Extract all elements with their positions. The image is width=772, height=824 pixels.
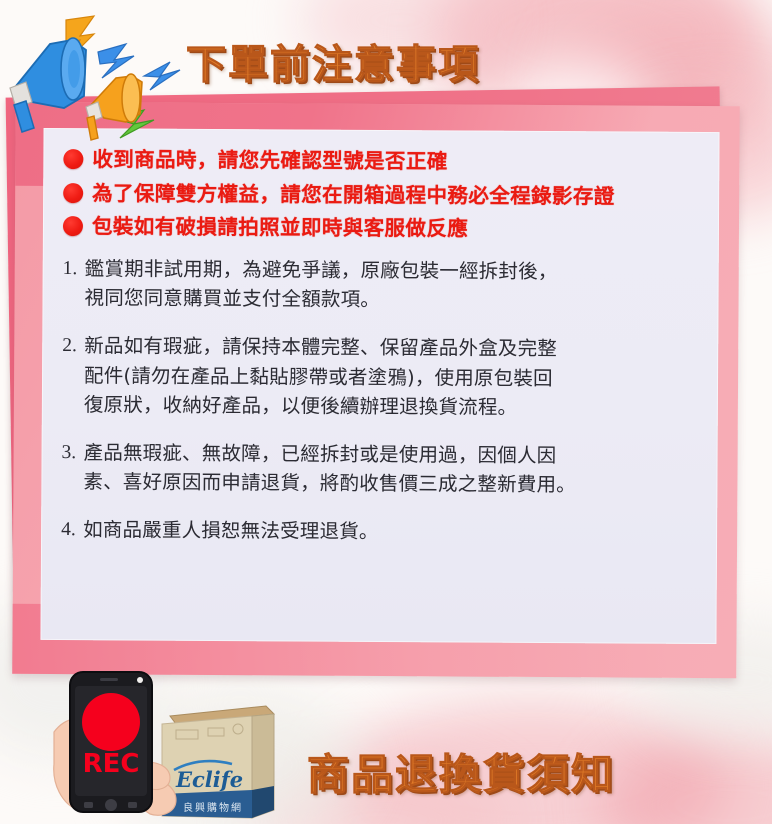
box-brand-sub-label: 良興購物網 — [183, 801, 243, 814]
list-item-line: 復原狀，收納好產品，以便後續辦理退換貨流程。 — [84, 390, 557, 423]
bullet-text: 為了保障雙方權益，請您在開箱過程中務必全程錄影存證 — [92, 182, 615, 208]
notice-panel: 收到商品時，請您先確認型號是否正確 為了保障雙方權益，請您在開箱過程中務必全程錄… — [40, 128, 719, 644]
bullet-text: 包裝如有破損請拍照並即時與客服做反應 — [92, 215, 468, 240]
list-item-line: 視同您同意購買並支付全額款項。 — [84, 283, 557, 316]
numbered-list: 1. 鑑賞期非試用期，為避免爭議，原廠包裝一經拆封後， 視同您同意購買並支付全額… — [61, 254, 697, 549]
red-dot-icon — [63, 149, 83, 169]
bullet-row: 為了保障雙方權益，請您在開箱過程中務必全程錄影存證 — [63, 182, 697, 208]
list-item-body: 鑑賞期非試用期，為避免爭議，原廠包裝一經拆封後， 視同您同意購買並支付全額款項。 — [84, 254, 557, 316]
megaphone-blue-icon — [10, 38, 86, 132]
list-item-line: 鑑賞期非試用期，為避免爭議，原廠包裝一經拆封後， — [85, 254, 558, 287]
list-item-line: 新品如有瑕疵，請保持本體完整、保留產品外盒及完整 — [84, 331, 557, 364]
lightning-blue-icon — [98, 44, 134, 78]
list-item-number: 1. — [63, 254, 85, 284]
bullet-row: 包裝如有破損請拍照並即時與客服做反應 — [63, 215, 697, 241]
list-item: 1. 鑑賞期非試用期，為避免爭議，原廠包裝一經拆封後， 視同您同意購買並支付全額… — [62, 254, 696, 317]
red-dot-icon — [63, 216, 83, 236]
megaphone-group — [0, 14, 204, 144]
list-item: 4. 如商品嚴重人損恕無法受理退貨。 — [61, 515, 695, 548]
list-item-body: 產品無瑕疵、無故障，已經拆封或是使用過，因個人因 素、喜好原因而申請退貨，將酌收… — [83, 438, 576, 500]
list-item: 3. 產品無瑕疵、無故障，已經拆封或是使用過，因個人因 素、喜好原因而申請退貨，… — [61, 438, 695, 501]
poster-canvas: 收到商品時，請您先確認型號是否正確 為了保障雙方權益，請您在開箱過程中務必全程錄… — [0, 0, 772, 824]
list-item-number: 3. — [61, 438, 83, 468]
footer-title: 商品退換貨須知 — [307, 741, 615, 802]
record-dot-icon — [82, 693, 140, 751]
list-item-body: 如商品嚴重人損恕無法受理退貨。 — [83, 515, 379, 546]
bullet-row: 收到商品時，請您先確認型號是否正確 — [63, 148, 697, 174]
list-item-body: 新品如有瑕疵，請保持本體完整、保留產品外盒及完整 配件(請勿在產品上黏貼膠帶或者… — [84, 331, 557, 423]
list-item-line: 產品無瑕疵、無故障，已經拆封或是使用過，因個人因 — [83, 438, 576, 471]
bullet-text: 收到商品時，請您先確認型號是否正確 — [92, 148, 447, 173]
list-item-line: 素、喜好原因而申請退貨，將酌收售價三成之整新費用。 — [83, 468, 576, 501]
list-item-line: 配件(請勿在產品上黏貼膠帶或者塗鴉)，使用原包裝回 — [84, 361, 557, 394]
page-title: 下單前注意事項 — [186, 32, 480, 90]
list-item-number: 4. — [61, 515, 83, 545]
list-item-line: 如商品嚴重人損恕無法受理退貨。 — [83, 515, 379, 546]
bullet-list: 收到商品時，請您先確認型號是否正確 為了保障雙方權益，請您在開箱過程中務必全程錄… — [63, 148, 698, 242]
box-brand-label: Eclife — [175, 767, 243, 792]
list-item: 2. 新品如有瑕疵，請保持本體完整、保留產品外盒及完整 配件(請勿在產品上黏貼膠… — [62, 331, 697, 424]
list-item-number: 2. — [62, 331, 84, 361]
shipping-box-icon: Eclife 良興購物網 — [162, 706, 274, 818]
recording-phone-icon: REC — [70, 672, 152, 812]
bottom-illustration: Eclife 良興購物網 REC — [52, 666, 332, 824]
rec-label: REC — [83, 749, 140, 779]
red-dot-icon — [63, 183, 83, 203]
